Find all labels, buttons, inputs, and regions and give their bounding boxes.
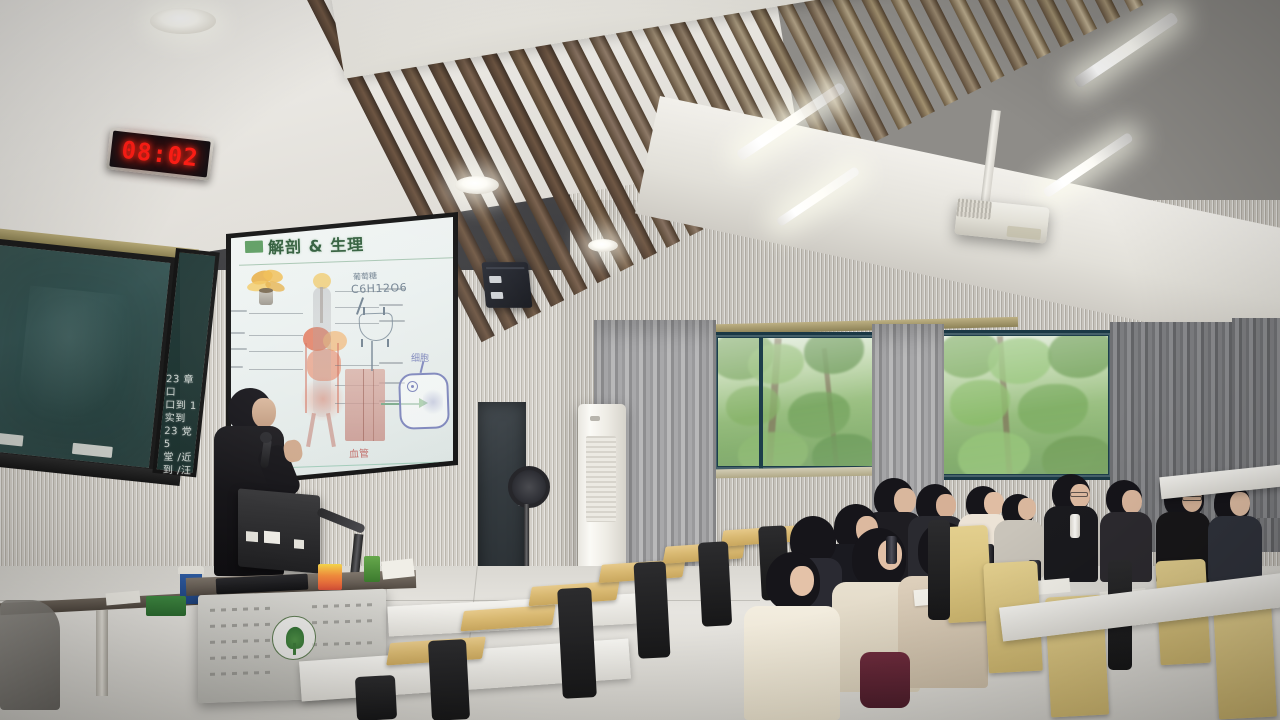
slide-title-rule	[239, 257, 453, 266]
student-face	[1230, 492, 1250, 516]
slide-title-marker	[245, 240, 263, 253]
paper-sheet[interactable]	[381, 558, 415, 579]
board-button-panel[interactable]	[72, 443, 113, 458]
university-emblem	[272, 615, 316, 661]
downlight-icon	[588, 239, 618, 252]
clock-time: 08:02	[120, 136, 200, 173]
folding-seat[interactable]	[928, 520, 950, 620]
blood-vessel-diagram	[345, 369, 385, 441]
downlight-icon	[455, 176, 499, 194]
green-bottle[interactable]	[364, 556, 380, 582]
folding-seat[interactable]	[557, 587, 597, 699]
downlight-icon	[150, 8, 216, 34]
cup-lid	[178, 566, 204, 574]
metal-chair[interactable]	[0, 600, 60, 710]
water-bottle[interactable]	[1070, 514, 1080, 538]
water-bottle[interactable]	[886, 536, 897, 564]
pedestal-fan[interactable]	[508, 466, 550, 508]
folding-seat[interactable]	[634, 561, 671, 659]
classroom-photo: 08:02 23 章 口 口到 1 实到 23 党 5 堂 /近 到 /汪 解剖…	[0, 0, 1280, 720]
student-face	[984, 492, 1004, 516]
lecture-chair[interactable]	[1213, 599, 1277, 720]
wall-speaker	[481, 262, 532, 308]
annotation-blood-vessel-label: 血管	[349, 445, 370, 461]
fruit-drink-cup[interactable]	[318, 564, 342, 590]
folding-seat[interactable]	[428, 639, 470, 720]
slide-title-text: 解剖 & 生理	[268, 231, 365, 258]
blackboard	[0, 238, 177, 474]
student-face	[790, 566, 814, 596]
student-face	[1122, 490, 1142, 514]
annotation-cell-label: 细胞	[411, 351, 429, 364]
board-button-panel[interactable]	[0, 432, 24, 447]
student-face	[1018, 498, 1036, 520]
student-face	[936, 494, 956, 518]
chalkboard-writing: 23 章 口 口到 1 实到 23 党 5 堂 /近 到 /汪	[163, 373, 200, 478]
side-table-leg	[96, 610, 108, 696]
folding-seat[interactable]	[355, 675, 397, 720]
glasses-icon	[1070, 492, 1088, 497]
student-face	[894, 488, 916, 514]
lectern-monitor[interactable]	[238, 488, 320, 573]
slide-title: 解剖 & 生理	[245, 231, 365, 259]
window-mullion	[759, 338, 763, 472]
student-body	[1208, 516, 1262, 582]
folding-seat[interactable]	[698, 541, 732, 626]
annotation-glucose-formula: C6H12O6	[351, 281, 408, 296]
annotation-glucose-label: 葡萄糖	[353, 270, 378, 282]
student-body	[744, 606, 840, 720]
lecturer-face	[252, 398, 276, 428]
backpack[interactable]	[860, 652, 910, 708]
green-box[interactable]	[146, 596, 186, 616]
